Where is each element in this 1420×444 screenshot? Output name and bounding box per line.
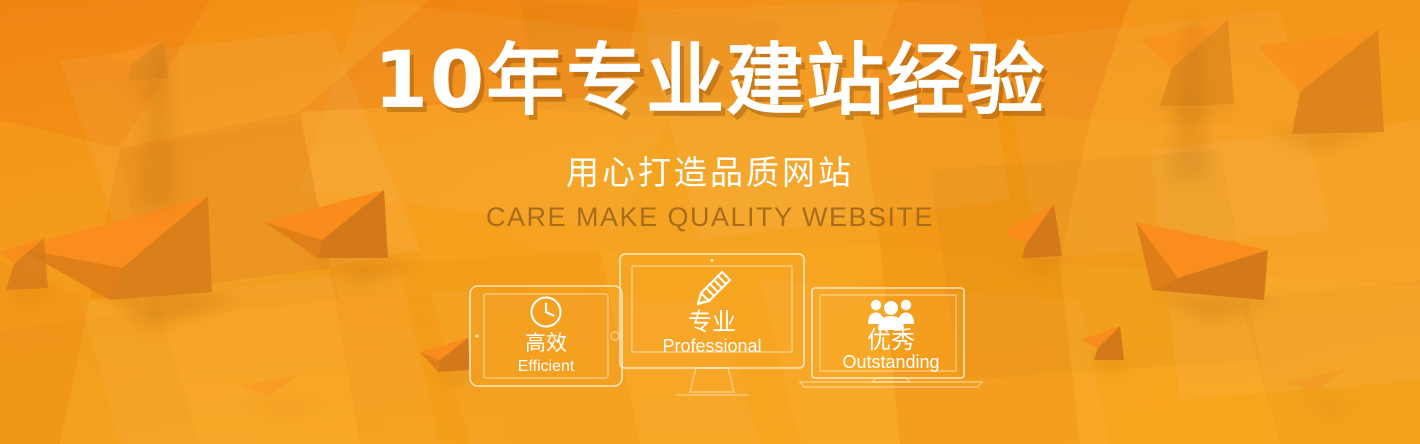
laptop-base xyxy=(800,382,982,387)
feature-label-cn-efficient: 高效 xyxy=(525,331,567,355)
clock-icon xyxy=(532,298,561,327)
tablet-camera-dot xyxy=(475,334,478,337)
monitor-camera-dot xyxy=(711,259,714,262)
subtitle-english: CARE MAKE QUALITY WEBSITE xyxy=(0,200,1420,234)
feature-card-professional[interactable]: 专业 Professional xyxy=(618,252,806,400)
feature-card-outstanding[interactable]: 优秀 Outstanding xyxy=(798,286,984,398)
feature-card-efficient[interactable]: 高效 Efficient xyxy=(468,284,624,388)
monitor-stand-neck xyxy=(690,368,734,392)
feature-label-cn-professional: 专业 xyxy=(688,308,736,336)
laptop-trackpad-notch xyxy=(872,378,910,382)
feature-device-group: 高效 Efficient xyxy=(0,248,1420,408)
page-title: 10年专业建站经验 xyxy=(0,38,1420,124)
subtitle-chinese: 用心打造品质网站 xyxy=(0,152,1420,194)
feature-label-cn-outstanding: 优秀 xyxy=(867,326,915,354)
banner-content: 10年专业建站经验 用心打造品质网站 CARE MAKE QUALITY WEB… xyxy=(0,0,1420,444)
promo-banner: 10年专业建站经验 用心打造品质网站 CARE MAKE QUALITY WEB… xyxy=(0,0,1420,444)
feature-label-en-professional: Professional xyxy=(662,336,761,356)
feature-label-en-efficient: Efficient xyxy=(518,358,575,375)
pencil-icon xyxy=(698,272,730,304)
feature-label-en-outstanding: Outstanding xyxy=(842,352,939,372)
